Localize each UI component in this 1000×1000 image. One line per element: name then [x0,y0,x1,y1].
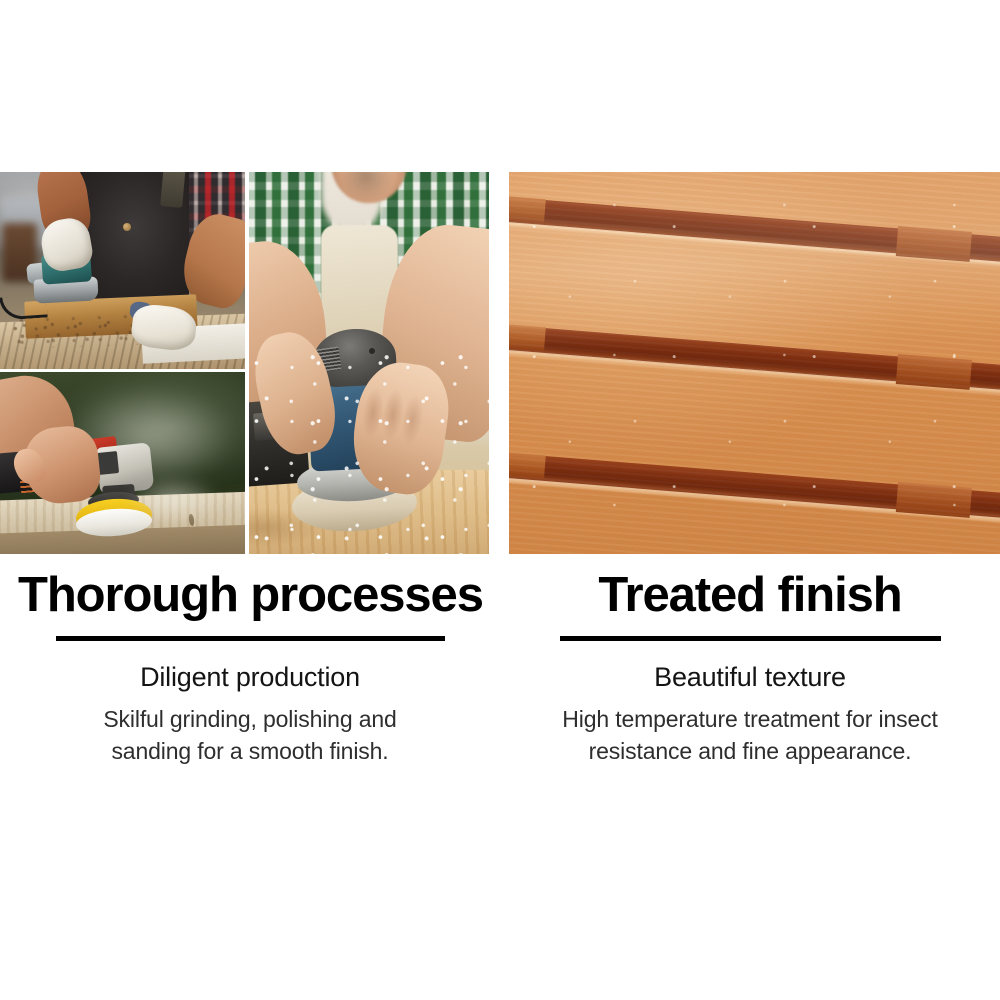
feature-body: High temperature treatment for insect re… [550,704,950,767]
feature-body-line-1: High temperature treatment for insect [562,706,937,732]
angle-grinder-polisher-photo [0,372,245,554]
slat-left-end [509,196,546,223]
dust-plume [118,459,245,532]
slat-right-end [896,226,972,262]
apron-strap [160,172,186,208]
feature-body-line-1: Skilful grinding, polishing and [103,706,396,732]
slat-right-end [896,482,972,518]
title-divider-rule [560,636,941,641]
process-photo-collage [0,172,489,554]
feature-body-line-2: sanding for a smooth finish. [111,738,388,764]
feature-column-treated-finish: Treated finish Beautiful texture High te… [500,570,1000,767]
feature-body: Skilful grinding, polishing and sanding … [50,704,450,767]
apron-rivet [123,223,131,231]
slat-left-end [509,452,546,479]
wood-chips [249,348,489,554]
grinder-side-switch [97,451,119,475]
title-divider-rule [56,636,445,641]
slat-right-end [896,354,972,390]
feature-column-thorough-processes: Thorough processes Diligent production S… [0,570,500,767]
feature-panel-page: Thorough processes Diligent production S… [0,0,1000,1000]
wood-slat-texture-photo [509,172,1000,554]
orbital-sander-workshop-photo [0,172,245,369]
feature-title: Treated finish [500,570,1000,622]
feature-title: Thorough processes [0,570,500,622]
media-band [0,172,1000,554]
slat-left-end [509,324,546,351]
feature-text-row: Thorough processes Diligent production S… [0,570,1000,767]
feature-body-line-2: resistance and fine appearance. [589,738,912,764]
feature-subtitle: Beautiful texture [500,661,1000,693]
feature-subtitle: Diligent production [0,661,500,693]
random-orbit-sander-photo [249,172,489,554]
